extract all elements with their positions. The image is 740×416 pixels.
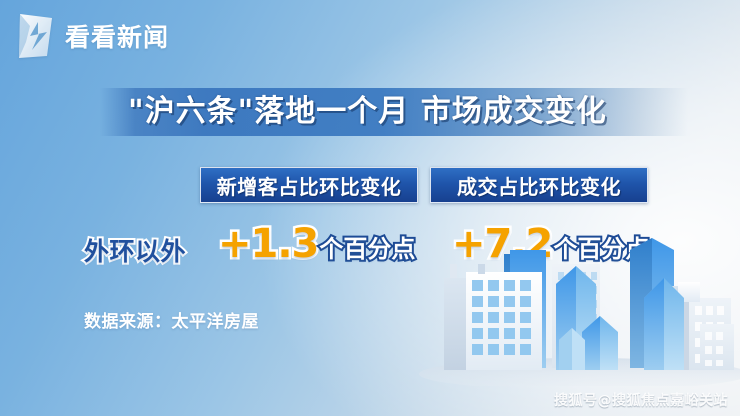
- data-source-note: 数据来源：太平洋房屋: [84, 307, 259, 332]
- brand-name: 看看新闻: [65, 18, 169, 54]
- metric-value-0: +1.3 个百分点: [218, 224, 415, 264]
- source-watermark: 搜狐号@搜狐焦点嘉峪关站: [554, 390, 728, 410]
- kankan-k-logo-icon: [16, 12, 56, 60]
- metric-column-header-0: 新增客占比环比变化: [200, 167, 418, 203]
- metric-column-label: 成交占比环比变化: [457, 171, 621, 200]
- metric-row-label: 外环以外: [84, 232, 186, 268]
- metric-value-number: +1.3: [218, 224, 318, 264]
- metric-column-label: 新增客占比环比变化: [217, 171, 402, 200]
- infographic-canvas: 看看新闻 "沪六条"落地一个月 市场成交变化 新增客占比环比变化 成交占比环比变…: [0, 0, 740, 416]
- page-title: "沪六条"落地一个月 市场成交变化: [128, 90, 668, 134]
- brand-logo: 看看新闻: [16, 12, 169, 60]
- city-skyline-illustration: [404, 236, 740, 386]
- metric-value-unit: 个百分点: [319, 237, 415, 261]
- metric-column-header-1: 成交占比环比变化: [430, 167, 648, 203]
